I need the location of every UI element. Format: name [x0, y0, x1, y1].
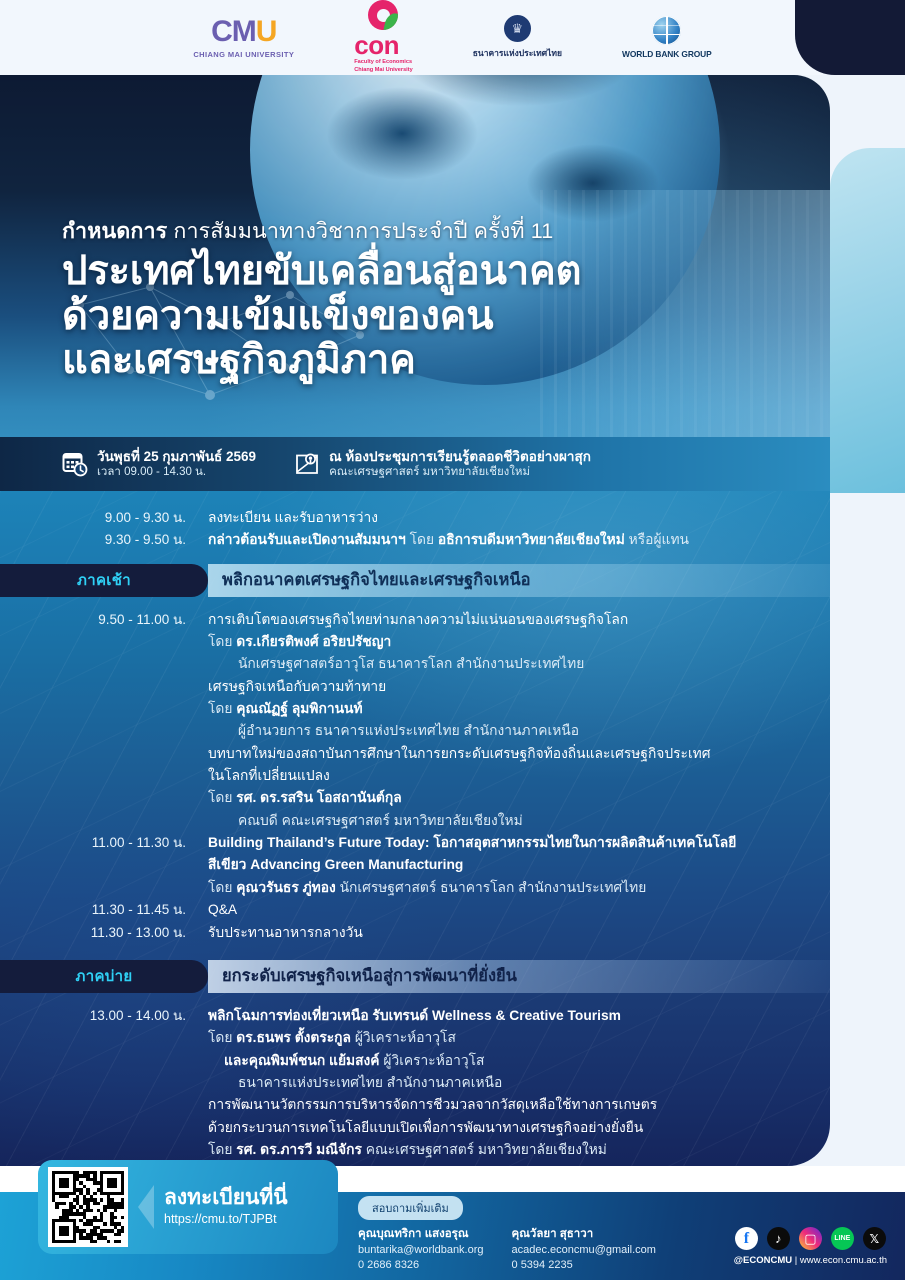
social-website[interactable]: www.econ.cmu.ac.th: [800, 1255, 887, 1266]
register-title: ลงทะเบียนที่นี่: [164, 1186, 288, 1209]
globe-icon: [652, 16, 681, 45]
worldbank-subtitle: WORLD BANK GROUP: [622, 49, 712, 59]
affiliation-line: ธนาคารแห่งประเทศไทย สำนักงานภาคเหนือ: [208, 1072, 804, 1094]
schedule-row: 9.50 - 11.00 น. การเติบโตของเศรษฐกิจไทยท…: [0, 597, 830, 832]
contact-entry: คุณวัลยา สุธาวา acadec.econcmu@gmail.com…: [512, 1226, 656, 1274]
contact-email[interactable]: buntarika@worldbank.org: [358, 1243, 484, 1259]
topic-line: การพัฒนานวัตกรรมการบริหารจัดการชีวมวลจาก…: [208, 1094, 804, 1116]
social-section: f ♪ ▢ LINE 𝕏 @ECONCMU | www.econ.cmu.ac.…: [734, 1227, 887, 1266]
speaker-name: รศ. ดร.รสริน โอสถานันต์กุล: [236, 790, 401, 805]
session-badge-label: ภาคบ่าย: [76, 964, 133, 988]
affiliation-line: ผู้อำนวยการ ธนาคารแห่งประเทศไทย สำนักงาน…: [208, 720, 804, 742]
hero-title-line-1: ประเทศไทยขับเคลื่อนสู่อนาคต: [62, 249, 762, 294]
contact-pill-label: สอบถามเพิ่มเติม: [358, 1196, 463, 1220]
schedule-desc-bold2: อธิการบดีมหาวิทยาลัยเชียงใหม่: [438, 532, 625, 547]
session-header-afternoon: ภาคบ่าย ยกระดับเศรษฐกิจเหนือสู่การพัฒนาท…: [0, 960, 830, 993]
topic-line: การเติบโตของเศรษฐกิจไทยท่ามกลางความไม่แน…: [208, 609, 804, 631]
topic-line: พลิกโฉมการท่องเที่ยวเหนือ รับเทรนด์ Well…: [208, 1008, 621, 1023]
econ-emblem-icon: [368, 0, 398, 30]
affiliation-line: นักเศรษฐศาสตร์อาวุโส ธนาคารโลก สำนักงานป…: [208, 653, 804, 675]
speaker-name: คุณวรันธร ภู่ทอง: [236, 880, 336, 895]
session-badge-label: ภาคเช้า: [77, 568, 131, 592]
decor-side-panel: [830, 148, 905, 493]
instagram-icon[interactable]: ▢: [799, 1227, 822, 1250]
schedule-row: 11.00 - 11.30 น. Building Thailand’s Fut…: [0, 832, 830, 899]
event-info-strip: วันพุธที่ 25 กุมภาพันธ์ 2569 เวลา 09.00 …: [0, 437, 830, 491]
speaker-line: โดย ดร.ธนพร ตั้งตระกูล ผู้วิเคราะห์อาวุโ…: [208, 1027, 804, 1049]
schedule-desc: การเติบโตของเศรษฐกิจไทยท่ามกลางความไม่แน…: [208, 609, 804, 832]
speaker-prefix: โดย: [208, 880, 236, 895]
topic-line: ในโลกที่เปลี่ยนแปลง: [208, 765, 804, 787]
topic-line: ด้วยกระบวนการเทคโนโลยีแบบเปิดเพื่อการพัฒ…: [208, 1117, 804, 1139]
schedule-time: 9.30 - 9.50 น.: [0, 529, 208, 551]
session-heading-bar-afternoon: ยกระดับเศรษฐกิจเหนือสู่การพัฒนาที่ยั่งยื…: [208, 960, 830, 993]
schedule-time: 11.00 - 11.30 น.: [0, 832, 208, 899]
event-date-label: วันพุธที่ 25 กุมภาพันธ์ 2569: [97, 448, 256, 465]
register-url[interactable]: https://cmu.to/TJPBt: [164, 1211, 288, 1227]
session-badge-morning: ภาคเช้า: [0, 564, 208, 597]
logo-bank-of-thailand: ♛ ธนาคารแห่งประเทศไทย: [473, 15, 562, 60]
session-heading-label: ยกระดับเศรษฐกิจเหนือสู่การพัฒนาที่ยั่งยื…: [222, 963, 517, 989]
speaker-prefix: โดย: [208, 634, 236, 649]
speaker-name: ดร.ธนพร ตั้งตระกูล: [236, 1030, 351, 1045]
hero-title-line-3: และเศรษฐกิจภูมิภาค: [62, 338, 762, 383]
social-separator: |: [792, 1255, 800, 1266]
topic-line: เศรษฐกิจเหนือกับความท้าทาย: [208, 676, 804, 698]
session-header-morning: ภาคเช้า พลิกอนาคตเศรษฐกิจไทยและเศรษฐกิจเ…: [0, 564, 830, 597]
session-heading-bar-morning: พลิกอนาคตเศรษฐกิจไทยและเศรษฐกิจเหนือ: [208, 564, 830, 597]
speaker-name: รศ. ดร.ภารวี มณีจักร: [236, 1142, 362, 1157]
speaker-prefix: โดย: [208, 701, 236, 716]
speaker-line: โดย รศ. ดร.รสริน โอสถานันต์กุล: [208, 787, 804, 809]
event-time-label: เวลา 09.00 - 14.30 น.: [97, 465, 256, 480]
topic-line: Building Thailand’s Future Today: โอกาสอ…: [208, 835, 736, 850]
contact-phone[interactable]: 0 5394 2235: [512, 1258, 656, 1274]
schedule-desc-text: ลงทะเบียน และรับอาหารว่าง: [208, 510, 378, 525]
contact-entry: คุณบุณทริกา แสงอรุณ buntarika@worldbank.…: [358, 1226, 484, 1274]
speaker-name: คุณณัฏฐ์ ลุมพิกานนท์: [236, 701, 362, 716]
decor-corner-blob: [795, 0, 905, 75]
contact-email[interactable]: acadec.econcmu@gmail.com: [512, 1243, 656, 1259]
contact-name: คุณวัลยา สุธาวา: [512, 1226, 656, 1242]
schedule-desc-text: รับประทานอาหารกลางวัน: [208, 925, 363, 940]
schedule-row: 9.00 - 9.30 น. ลงทะเบียน และรับอาหารว่าง: [0, 507, 830, 529]
affiliation-line: คณบดี คณะเศรษฐศาสตร์ มหาวิทยาลัยเชียงใหม…: [208, 810, 804, 832]
session-heading-label: พลิกอนาคตเศรษฐกิจไทยและเศรษฐกิจเหนือ: [222, 567, 531, 593]
cmu-mark-cm: CM: [211, 17, 256, 47]
schedule-desc: ลงทะเบียน และรับอาหารว่าง: [208, 507, 804, 529]
logo-cmu: CMU CHIANG MAI UNIVERSITY: [193, 17, 294, 59]
speaker-line: โดย คุณณัฏฐ์ ลุมพิกานนท์: [208, 698, 804, 720]
schedule-desc: Q&A: [208, 899, 804, 921]
schedule-desc: รับประทานอาหารกลางวัน: [208, 922, 804, 944]
schedule-desc-bold: กล่าวต้อนรับและเปิดงานสัมมนาฯ: [208, 532, 406, 547]
speaker-affil: ผู้วิเคราะห์อาวุโส: [380, 1053, 485, 1068]
topic-line: บทบาทใหม่ของสถาบันการศึกษาในการยกระดับเศ…: [208, 743, 804, 765]
bot-seal-icon: ♛: [504, 15, 531, 42]
tiktok-icon[interactable]: ♪: [767, 1227, 790, 1250]
hero-title-line-2: ด้วยความเข้มแข็งของคน: [62, 294, 762, 339]
map-pin-icon: [294, 451, 320, 477]
hero-main-title: ประเทศไทยขับเคลื่อนสู่อนาคต ด้วยความเข้ม…: [62, 249, 762, 383]
contact-section: สอบถามเพิ่มเติม คุณบุณทริกา แสงอรุณ bunt…: [358, 1196, 656, 1274]
schedule-desc-mid: โดย: [406, 532, 438, 547]
social-handle-row: @ECONCMU | www.econ.cmu.ac.th: [734, 1255, 887, 1266]
schedule-row: 9.30 - 9.50 น. กล่าวต้อนรับและเปิดงานสัม…: [0, 529, 830, 551]
event-venue-info: ณ ห้องประชุมการเรียนรู้ตลอดชีวิตอย่างผาส…: [294, 448, 591, 480]
speaker-prefix: โดย: [208, 1030, 236, 1045]
speaker-name: คุณพิมพ์ชนก แย้มสงค์: [249, 1053, 380, 1068]
arrow-left-icon: [138, 1185, 154, 1229]
cmu-subtitle: CHIANG MAI UNIVERSITY: [193, 50, 294, 59]
speaker-prefix: โดย: [208, 790, 236, 805]
leaf-icon: [383, 12, 398, 30]
session-badge-afternoon: ภาคบ่าย: [0, 960, 208, 993]
schedule-time: 11.30 - 11.45 น.: [0, 899, 208, 921]
cmu-wordmark: CMU: [211, 17, 276, 47]
hero-kicker: กำหนดการ การสัมมนาทางวิชาการประจำปี ครั้…: [62, 218, 762, 245]
hero-title-block: กำหนดการ การสัมมนาทางวิชาการประจำปี ครั้…: [62, 218, 762, 383]
speaker-affil: นักเศรษฐศาสตร์ ธนาคารโลก สำนักงานประเทศไ…: [336, 880, 647, 895]
facebook-icon[interactable]: f: [735, 1227, 758, 1250]
speaker-affil: ผู้วิเคราะห์อาวุโส: [351, 1030, 456, 1045]
schedule-desc-tail: หรือผู้แทน: [625, 532, 689, 547]
contact-phone[interactable]: 0 2686 8326: [358, 1258, 484, 1274]
speaker-line: และคุณพิมพ์ชนก แย้มสงค์ ผู้วิเคราะห์อาวุ…: [208, 1050, 804, 1072]
schedule-desc-text: Q&A: [208, 902, 237, 917]
bot-subtitle: ธนาคารแห่งประเทศไทย: [473, 46, 562, 60]
speaker-prefix: และ: [224, 1053, 249, 1068]
speaker-affil: คณะเศรษฐศาสตร์ มหาวิทยาลัยเชียงใหม่: [362, 1142, 607, 1157]
schedule-time: 13.00 - 14.00 น.: [0, 1005, 208, 1161]
schedule-desc: Building Thailand’s Future Today: โอกาสอ…: [208, 832, 804, 899]
social-handle: @ECONCMU: [734, 1255, 792, 1266]
speaker-name: ดร.เกียรติพงศ์ อริยปรัชญา: [236, 634, 391, 649]
schedule-time: 9.50 - 11.00 น.: [0, 609, 208, 832]
schedule-row: 11.30 - 11.45 น. Q&A: [0, 899, 830, 921]
schedule-row: 11.30 - 13.00 น. รับประทานอาหารกลางวัน: [0, 922, 830, 944]
event-date-info: วันพุธที่ 25 กุมภาพันธ์ 2569 เวลา 09.00 …: [62, 448, 256, 480]
hero-kicker-bold: กำหนดการ: [62, 219, 167, 243]
speaker-prefix: โดย: [208, 1142, 236, 1157]
contact-name: คุณบุณทริกา แสงอรุณ: [358, 1226, 484, 1242]
event-venue-sub: คณะเศรษฐศาสตร์ มหาวิทยาลัยเชียงใหม่: [329, 465, 591, 480]
schedule-row: 13.00 - 14.00 น. พลิกโฉมการท่องเที่ยวเหน…: [0, 993, 830, 1161]
x-icon[interactable]: 𝕏: [863, 1227, 886, 1250]
sponsor-logo-bar: CMU CHIANG MAI UNIVERSITY con Faculty of…: [0, 0, 905, 75]
logo-world-bank-group: WORLD BANK GROUP: [622, 16, 712, 59]
speaker-line: โดย ดร.เกียรติพงศ์ อริยปรัชญา: [208, 631, 804, 653]
speaker-line: โดย คุณวรันธร ภู่ทอง นักเศรษฐศาสตร์ ธนาค…: [208, 877, 804, 899]
econ-wordmark: con: [354, 32, 412, 58]
qr-code[interactable]: [48, 1167, 128, 1247]
schedule-time: 11.30 - 13.00 น.: [0, 922, 208, 944]
schedule-time: 9.00 - 9.30 น.: [0, 507, 208, 529]
schedule-panel: 9.00 - 9.30 น. ลงทะเบียน และรับอาหารว่าง…: [0, 491, 830, 1166]
logo-econ-cmu: con Faculty of Economics Chiang Mai Univ…: [354, 0, 412, 74]
schedule-desc: กล่าวต้อนรับและเปิดงานสัมมนาฯ โดย อธิการ…: [208, 529, 804, 551]
econ-tagline: Faculty of Economics Chiang Mai Universi…: [354, 59, 412, 74]
calendar-clock-icon: [62, 451, 88, 477]
cmu-mark-u: U: [256, 17, 277, 47]
schedule-desc: พลิกโฉมการท่องเที่ยวเหนือ รับเทรนด์ Well…: [208, 1005, 804, 1161]
line-icon[interactable]: LINE: [831, 1227, 854, 1250]
event-venue-label: ณ ห้องประชุมการเรียนรู้ตลอดชีวิตอย่างผาส…: [329, 448, 591, 465]
hero-kicker-rest: การสัมมนาทางวิชาการประจำปี ครั้งที่ 11: [167, 219, 553, 243]
registration-card[interactable]: ลงทะเบียนที่นี่ https://cmu.to/TJPBt: [38, 1160, 338, 1254]
speaker-line: โดย รศ. ดร.ภารวี มณีจักร คณะเศรษฐศาสตร์ …: [208, 1139, 804, 1161]
topic-line: สีเขียว Advancing Green Manufacturing: [208, 857, 463, 872]
